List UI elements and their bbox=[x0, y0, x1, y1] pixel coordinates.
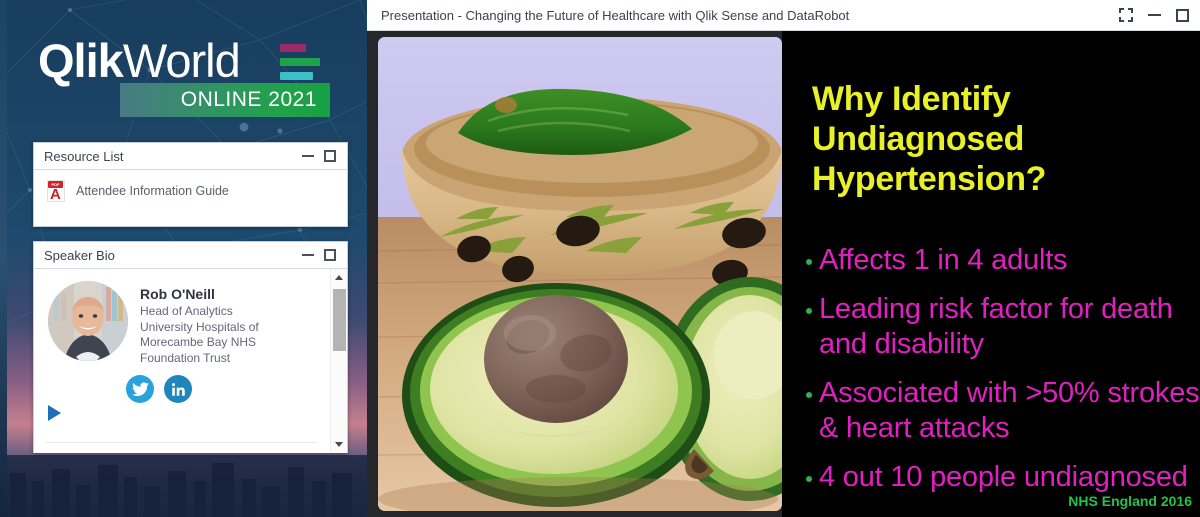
presentation-window-controls bbox=[1114, 3, 1196, 27]
maximize-icon[interactable] bbox=[1170, 3, 1194, 27]
speaker-bio-text: Rob O'Neill Head of Analytics University… bbox=[140, 281, 259, 366]
resource-list-body: PDF A Attendee Information Guide bbox=[34, 170, 347, 202]
pane-edge-strip bbox=[0, 0, 7, 517]
scroll-up-button[interactable] bbox=[331, 269, 347, 286]
maximize-icon bbox=[324, 150, 336, 162]
logo-online-bar: ONLINE 2021 bbox=[120, 83, 330, 117]
scroll-down-button[interactable] bbox=[331, 436, 347, 453]
speaker-bio-maximize-button[interactable] bbox=[319, 245, 341, 265]
bullet-dot-icon bbox=[806, 308, 812, 314]
resource-list-panel: Resource List PDF A Attendee Information… bbox=[33, 142, 348, 227]
speaker-bio-body: Rob O'Neill Head of Analytics University… bbox=[34, 269, 347, 453]
twitter-icon[interactable] bbox=[126, 375, 154, 403]
bullet-dot-icon bbox=[806, 476, 812, 482]
slide-stage: Why Identify Undiagnosed Hypertension? A… bbox=[367, 31, 1200, 517]
chevron-down-icon bbox=[335, 442, 343, 447]
bullet-text: Affects 1 in 4 adults bbox=[819, 243, 1067, 278]
pdf-icon: PDF A bbox=[46, 180, 66, 202]
bullet-dot-icon bbox=[806, 392, 812, 398]
resource-list-title: Resource List bbox=[44, 149, 297, 164]
maximize-icon bbox=[324, 249, 336, 261]
bullet-text: Leading risk factor for death and disabi… bbox=[819, 292, 1200, 362]
linkedin-icon[interactable] bbox=[164, 375, 192, 403]
speaker-name: Rob O'Neill bbox=[140, 286, 259, 302]
presentation-window: Presentation - Changing the Future of He… bbox=[367, 0, 1200, 517]
resource-list-maximize-button[interactable] bbox=[319, 146, 341, 166]
list-item: Affects 1 in 4 adults bbox=[802, 243, 1200, 278]
avatar bbox=[48, 281, 128, 361]
minimize-icon bbox=[302, 155, 314, 157]
list-item: Leading risk factor for death and disabi… bbox=[802, 292, 1200, 362]
minimize-icon bbox=[302, 254, 314, 256]
play-video-button[interactable] bbox=[48, 405, 61, 421]
speaker-bio-minimize-button[interactable] bbox=[297, 245, 319, 265]
event-background-pane: ONLINE 2021 QlikWorld Resource List bbox=[0, 0, 368, 517]
bullet-text: 4 out 10 people undiagnosed bbox=[819, 460, 1188, 495]
speaker-line-2: University Hospitals of bbox=[140, 320, 259, 336]
presentation-title: Presentation - Changing the Future of He… bbox=[381, 8, 1114, 23]
scrollbar-thumb[interactable] bbox=[333, 289, 346, 351]
fullscreen-icon[interactable] bbox=[1114, 3, 1138, 27]
list-item[interactable]: PDF A Attendee Information Guide bbox=[46, 180, 347, 202]
resource-item-label: Attendee Information Guide bbox=[76, 184, 229, 198]
logo-world-text: World bbox=[123, 34, 240, 87]
logo-bar-3 bbox=[280, 72, 313, 80]
speaker-line-4: Foundation Trust bbox=[140, 351, 259, 367]
list-item: Associated with >50% strokes & heart att… bbox=[802, 376, 1200, 446]
divider bbox=[46, 442, 317, 443]
slide-content-panel: Why Identify Undiagnosed Hypertension? A… bbox=[782, 31, 1200, 517]
presentation-titlebar: Presentation - Changing the Future of He… bbox=[367, 0, 1200, 31]
speaker-line-3: Morecambe Bay NHS bbox=[140, 335, 259, 351]
speaker-social-links bbox=[34, 375, 347, 403]
app-root: ONLINE 2021 QlikWorld Resource List bbox=[0, 0, 1200, 517]
resource-list-header: Resource List bbox=[34, 143, 347, 170]
bullet-dot-icon bbox=[806, 259, 812, 265]
speaker-bio-scrollbar[interactable] bbox=[330, 269, 347, 453]
speaker-bio-title: Speaker Bio bbox=[44, 248, 297, 263]
minimize-icon[interactable] bbox=[1142, 3, 1166, 27]
logo-wordmark: QlikWorld bbox=[38, 36, 240, 86]
chevron-up-icon bbox=[335, 275, 343, 280]
speaker-bio-header: Speaker Bio bbox=[34, 242, 347, 269]
slide-credit: NHS England 2016 bbox=[1068, 493, 1192, 509]
logo-bars-icon bbox=[280, 44, 324, 84]
speaker-bio-panel: Speaker Bio bbox=[33, 241, 348, 453]
bullet-text: Associated with >50% strokes & heart att… bbox=[819, 376, 1200, 446]
logo-qlik-text: Qlik bbox=[38, 34, 123, 87]
slide-bullet-list: Affects 1 in 4 adults Leading risk facto… bbox=[802, 243, 1200, 509]
slide-photo bbox=[378, 37, 782, 511]
speaker-line-1: Head of Analytics bbox=[140, 304, 259, 320]
logo-bar-1 bbox=[280, 44, 306, 52]
resource-list-minimize-button[interactable] bbox=[297, 146, 319, 166]
logo-subtitle: ONLINE 2021 bbox=[181, 88, 330, 112]
list-item: 4 out 10 people undiagnosed bbox=[802, 460, 1200, 495]
logo-bar-2 bbox=[280, 58, 320, 66]
qlikworld-logo: ONLINE 2021 QlikWorld bbox=[38, 36, 330, 120]
slide-title: Why Identify Undiagnosed Hypertension? bbox=[812, 79, 1142, 199]
